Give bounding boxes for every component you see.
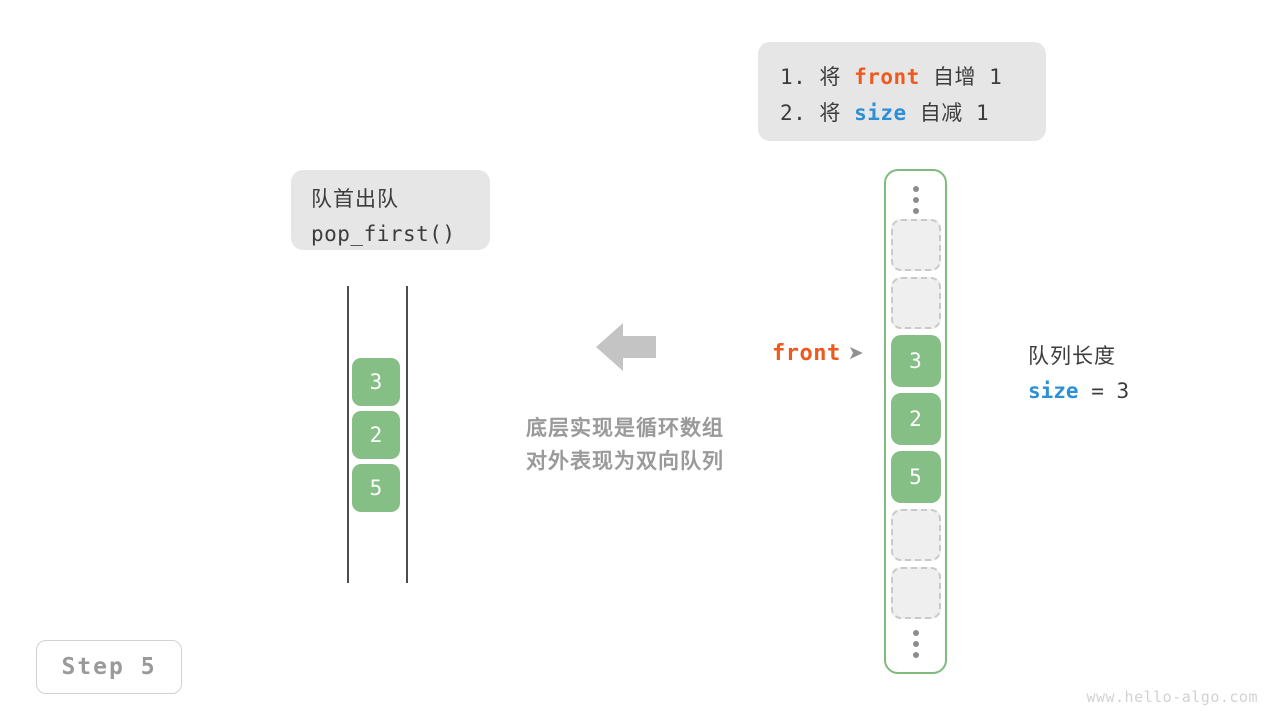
array-slot-empty (891, 567, 941, 619)
step-2-suffix: 自减 1 (907, 101, 989, 125)
deque-cell: 2 (352, 411, 400, 459)
array-slot-filled: 3 (891, 335, 941, 387)
step-badge: Step 5 (36, 640, 182, 694)
operation-title-method: pop_first() (311, 217, 470, 252)
circular-array-column: 3 2 5 (884, 169, 947, 674)
dot (913, 186, 919, 192)
deque-visual: 3 2 5 (344, 286, 412, 583)
step-1-suffix: 自增 1 (920, 65, 1002, 89)
caption-text: 底层实现是循环数组 对外表现为双向队列 (500, 412, 750, 478)
operation-step-line-2: 2. 将 size 自减 1 (780, 95, 1024, 131)
front-pointer-arrow-icon: ➤ (848, 344, 864, 363)
dot (913, 641, 919, 647)
operation-step-line-1: 1. 将 front 自增 1 (780, 59, 1024, 95)
caption-line-2: 对外表现为双向队列 (500, 445, 750, 478)
operation-steps-box: 1. 将 front 自增 1 2. 将 size 自减 1 (758, 42, 1046, 141)
front-pointer-label: front ➤ (772, 341, 864, 366)
queue-size-title: 队列长度 (1028, 340, 1129, 373)
array-slot-filled: 2 (891, 393, 941, 445)
step-1-prefix: 1. 将 (780, 65, 854, 89)
arrow-left-icon (596, 320, 656, 374)
step-2-keyword-size: size (854, 101, 907, 125)
array-slot-empty (891, 509, 941, 561)
deque-rail-left (347, 286, 349, 583)
vertical-dots-icon-top (913, 181, 919, 219)
array-slot-empty (891, 277, 941, 329)
step-1-keyword-front: front (854, 65, 920, 89)
deque-cell: 3 (352, 358, 400, 406)
deque-rail-right (406, 286, 408, 583)
queue-size-annotation: 队列长度 size = 3 (1028, 340, 1129, 409)
front-pointer-text: front (772, 341, 841, 366)
caption-line-1: 底层实现是循环数组 (500, 412, 750, 445)
dot (913, 208, 919, 214)
diagram-canvas: 1. 将 front 自增 1 2. 将 size 自减 1 队首出队 pop_… (0, 0, 1280, 720)
size-equals: = (1079, 379, 1117, 403)
deque-cell-stack: 3 2 5 (352, 358, 400, 517)
vertical-dots-icon-bottom (913, 625, 919, 663)
dot (913, 630, 919, 636)
array-slot-filled: 5 (891, 451, 941, 503)
watermark: www.hello-algo.com (1086, 688, 1258, 706)
deque-cell: 5 (352, 464, 400, 512)
queue-size-expression: size = 3 (1028, 373, 1129, 409)
operation-title-box: 队首出队 pop_first() (291, 170, 490, 250)
size-variable-name: size (1028, 379, 1079, 403)
size-value: 3 (1117, 379, 1130, 403)
step-2-prefix: 2. 将 (780, 101, 854, 125)
dot (913, 197, 919, 203)
operation-title-cn: 队首出队 (311, 182, 470, 217)
array-slot-empty (891, 219, 941, 271)
dot (913, 652, 919, 658)
